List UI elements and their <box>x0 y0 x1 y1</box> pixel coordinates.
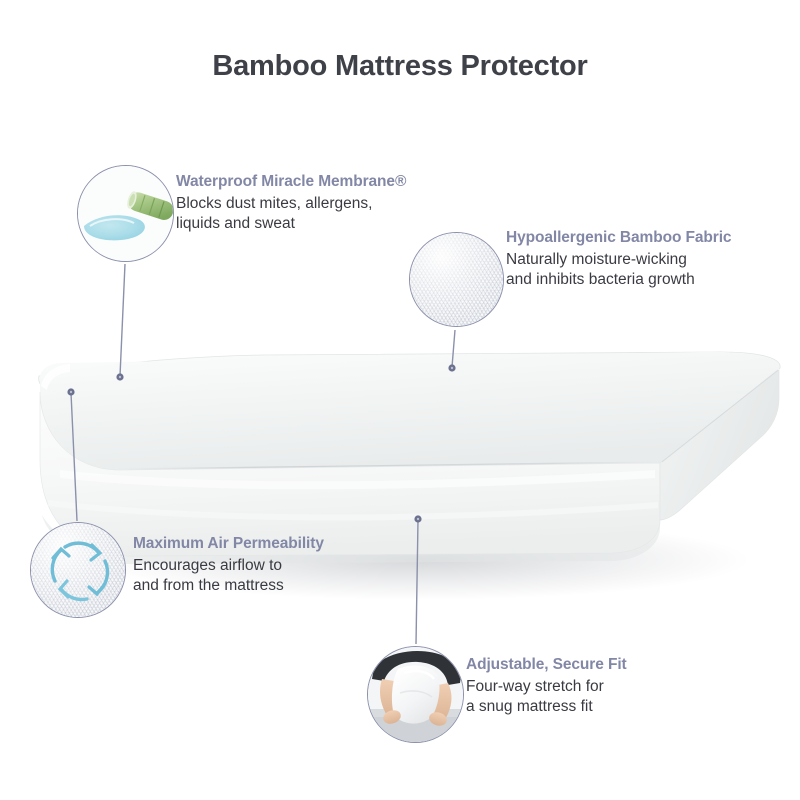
callout-body-line-2: and inhibits bacteria growth <box>506 270 731 290</box>
callout-heading: Adjustable, Secure Fit <box>466 655 627 675</box>
callout-waterproof-miracle-membrane: Waterproof Miracle Membrane® Blocks dust… <box>176 172 406 234</box>
callout-maximum-air-permeability: Maximum Air Permeability Encourages airf… <box>133 534 324 596</box>
infographic-canvas: Bamboo Mattress Protector <box>0 0 800 800</box>
woven-fabric-texture-icon <box>409 232 504 327</box>
callout-adjustable-secure-fit: Adjustable, Secure Fit Four-way stretch … <box>466 655 627 717</box>
airflow-arrows-icon <box>30 522 126 618</box>
callout-body-line-2: liquids and sweat <box>176 214 406 234</box>
callout-heading: Waterproof Miracle Membrane® <box>176 172 406 192</box>
callout-body-line-1: Naturally moisture-wicking <box>506 250 731 270</box>
callout-body-line-1: Four-way stretch for <box>466 677 627 697</box>
callout-heading: Hypoallergenic Bamboo Fabric <box>506 228 731 248</box>
callout-body-line-2: a snug mattress fit <box>466 697 627 717</box>
callout-heading: Maximum Air Permeability <box>133 534 324 554</box>
callout-body-line-1: Encourages airflow to <box>133 556 324 576</box>
callout-body-line-2: and from the mattress <box>133 576 324 596</box>
callout-body-line-1: Blocks dust mites, allergens, <box>176 194 406 214</box>
callout-hypoallergenic-bamboo-fabric: Hypoallergenic Bamboo Fabric Naturally m… <box>506 228 731 290</box>
hands-fitting-protector-icon <box>367 646 464 743</box>
liquid-droplet-bamboo-icon <box>77 165 174 262</box>
